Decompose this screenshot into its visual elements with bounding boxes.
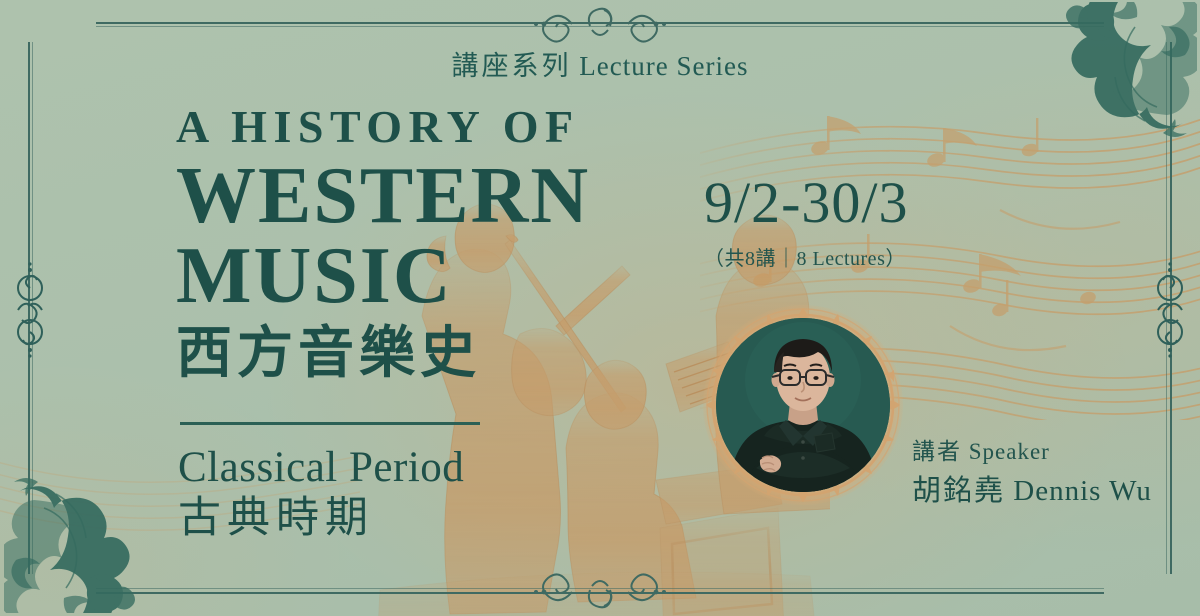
title-cjk: 西方音樂史 [176,325,776,384]
lecture-series-poster: 講座系列 Lecture Series A HISTORY OF WESTERN… [0,0,1200,616]
speaker-name: 胡銘堯 Dennis Wu [912,474,1192,509]
lecture-series-label-cjk: 講座系列 [452,51,572,81]
poster-content: 講座系列 Lecture Series A HISTORY OF WESTERN… [0,0,1200,616]
speaker-label-en: Speaker [962,439,1050,464]
speaker-label: 講者 Speaker [912,438,1192,466]
lecture-count-note: （共8講｜8 Lectures） [704,242,1124,271]
subtitle: Classical Period 古典時期 [178,444,698,543]
lecture-series-label-en: Lecture Series [572,51,749,81]
date-block: 9/2-30/3 （共8講｜8 Lectures） [704,174,1124,271]
lecture-series-label: 講座系列 Lecture Series [0,44,1200,83]
speaker-name-cjk: 胡銘堯 [912,475,1005,507]
main-title: A HISTORY OF WESTERN MUSIC 西方音樂史 [176,104,776,384]
title-line-1: A HISTORY OF [176,104,776,150]
subtitle-cjk: 古典時期 [178,495,698,543]
speaker-headshot-illustration [716,318,890,492]
speaker-label-cjk: 講者 [912,439,962,464]
title-line-3: MUSIC [176,238,776,316]
speaker-portrait [700,302,906,508]
title-line-2: WESTERN [176,158,776,236]
section-divider [180,422,480,425]
speaker-info: 講者 Speaker 胡銘堯 Dennis Wu [912,438,1192,508]
speaker-photo [716,318,890,492]
date-range: 9/2-30/3 [704,174,1124,232]
speaker-name-en: Dennis Wu [1005,475,1152,507]
subtitle-en: Classical Period [178,444,698,491]
